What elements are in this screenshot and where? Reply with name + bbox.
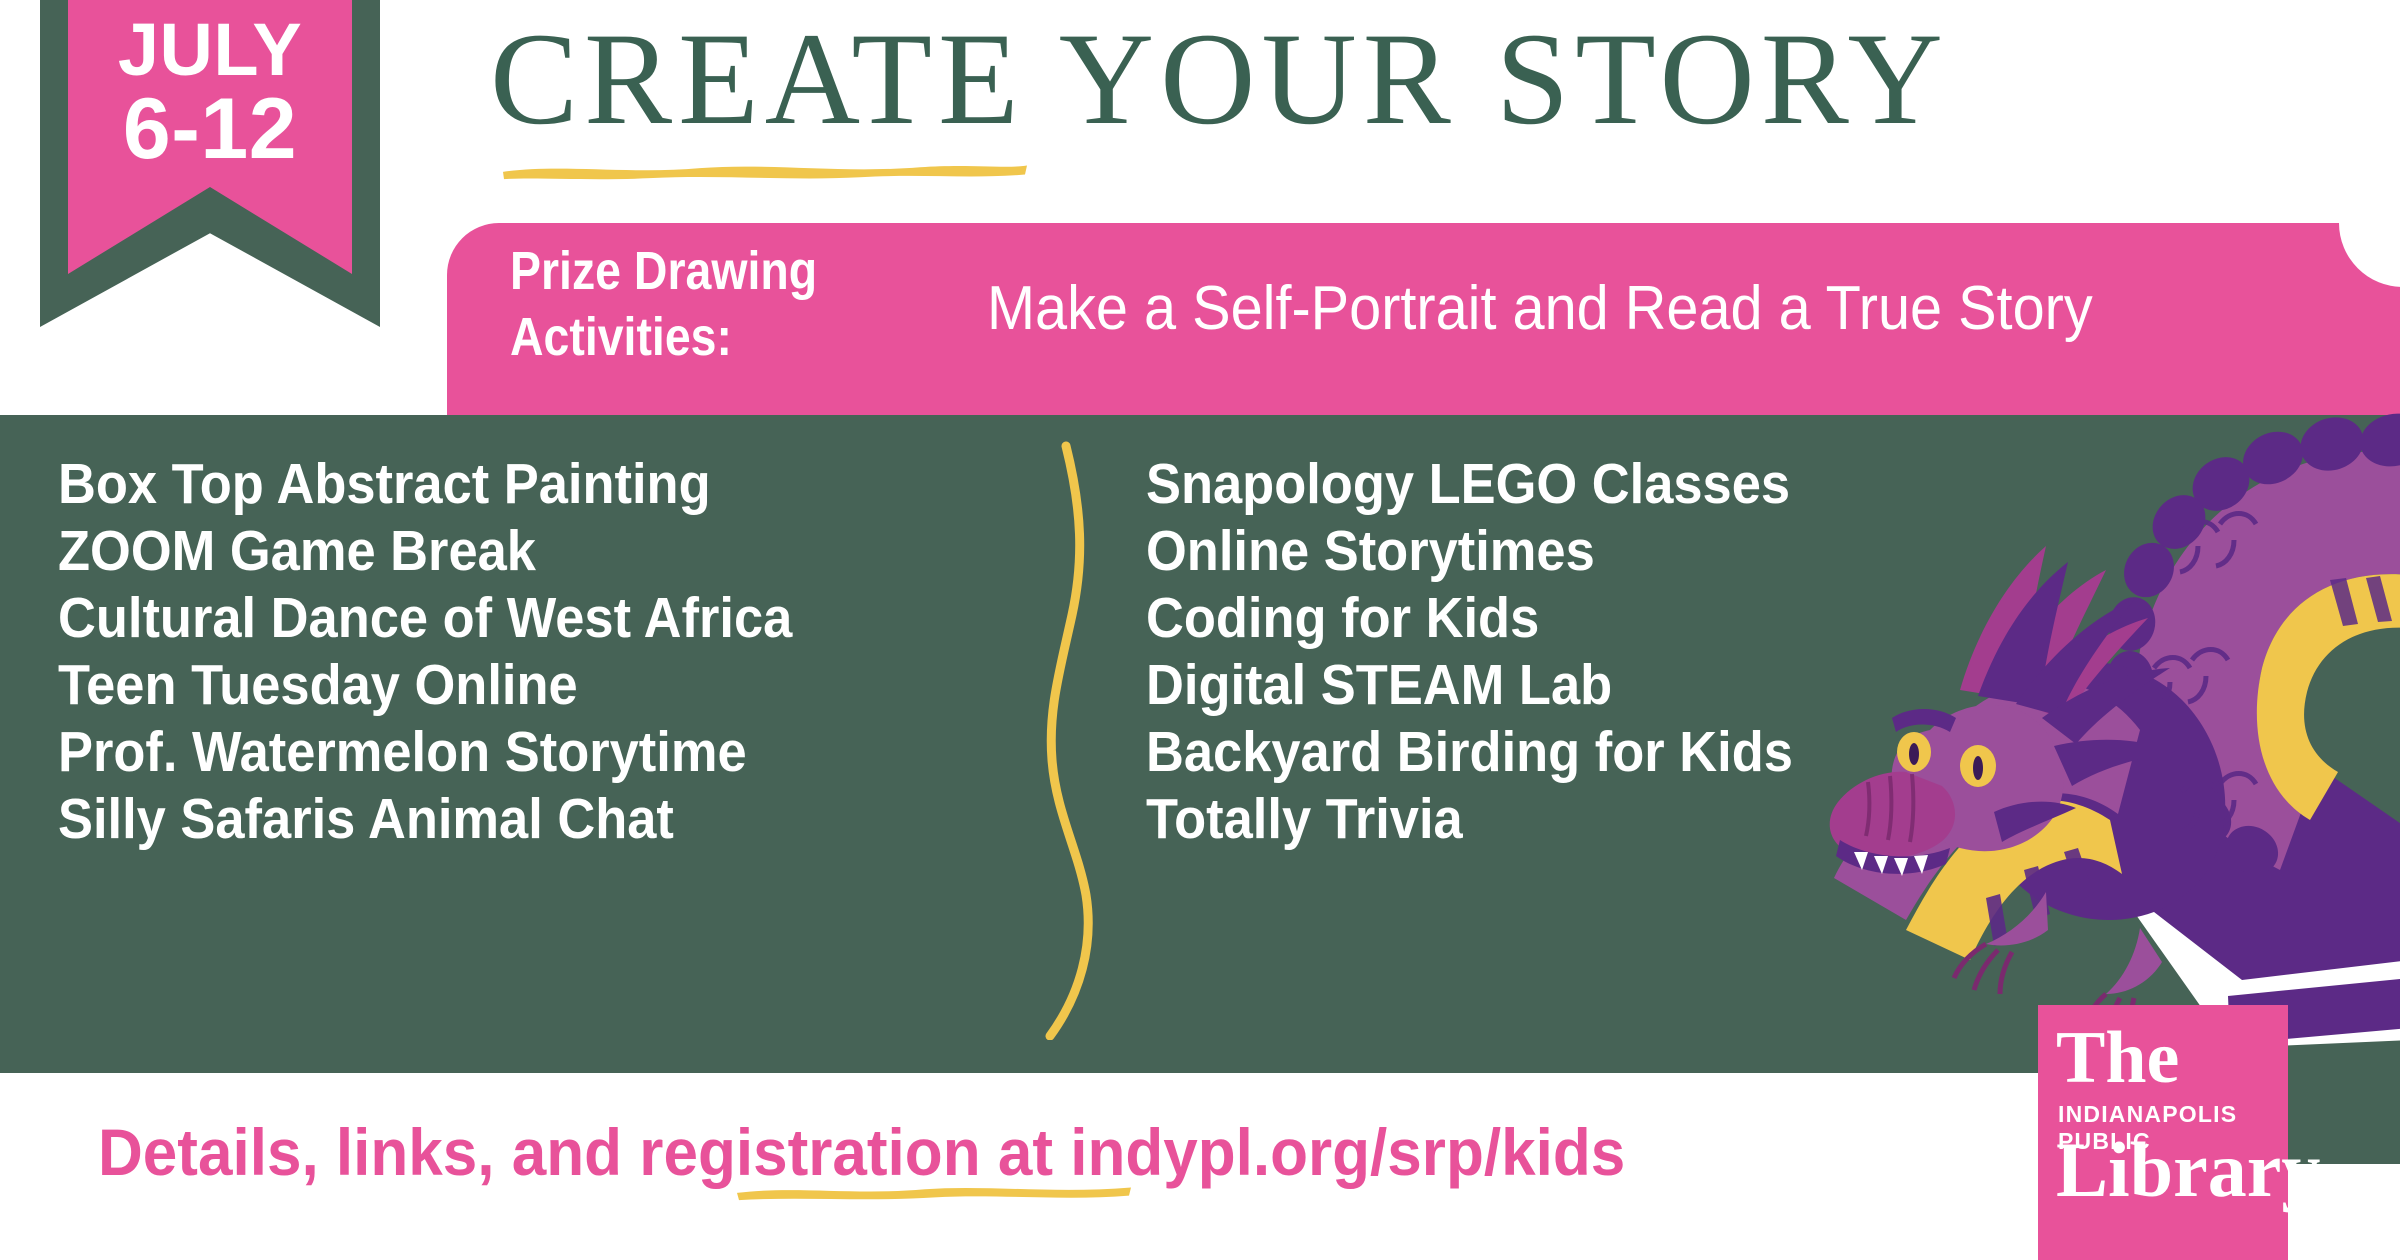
date-ribbon: JULY 6-12 (40, 0, 380, 327)
list-item: Teen Tuesday Online (58, 652, 941, 719)
ribbon-days: 6-12 (40, 87, 380, 171)
logo-the-text: The (2056, 1021, 2179, 1095)
list-item: Box Top Abstract Painting (58, 451, 941, 518)
ribbon-date-text: JULY 6-12 (40, 14, 380, 171)
library-logo[interactable]: The INDIANAPOLIS PUBLIC Library (2038, 1005, 2288, 1260)
list-item: Prof. Watermelon Storytime (58, 719, 941, 786)
prize-drawing-label: Prize Drawing Activities: (510, 239, 914, 371)
ribbon-month: JULY (40, 14, 380, 87)
title-brush-underline-icon (500, 160, 1030, 180)
list-item: ZOOM Game Break (58, 518, 941, 585)
dragon-illustration (1810, 400, 2400, 1060)
list-item: Cultural Dance of West Africa (58, 585, 941, 652)
prize-drawing-banner: Prize Drawing Activities: Make a Self-Po… (447, 223, 2400, 416)
wavy-line-icon (1020, 440, 1160, 1040)
activities-column-left: Box Top Abstract Painting ZOOM Game Brea… (58, 451, 1018, 853)
footer-brush-underline-icon (735, 1183, 1135, 1201)
prize-drawing-label-line1: Prize Drawing (510, 239, 914, 305)
footer-text[interactable]: Details, links, and registration at indy… (98, 1114, 1625, 1190)
poster-canvas: JULY 6-12 CREATE YOUR STORY Prize Drawin… (0, 0, 2400, 1260)
logo-library-text: Library (2056, 1131, 2320, 1209)
prize-drawing-value: Make a Self-Portrait and Read a True Sto… (987, 273, 2093, 344)
list-item: Silly Safaris Animal Chat (58, 786, 941, 853)
prize-drawing-label-line2: Activities: (510, 305, 914, 371)
page-title: CREATE YOUR STORY (490, 10, 1949, 149)
